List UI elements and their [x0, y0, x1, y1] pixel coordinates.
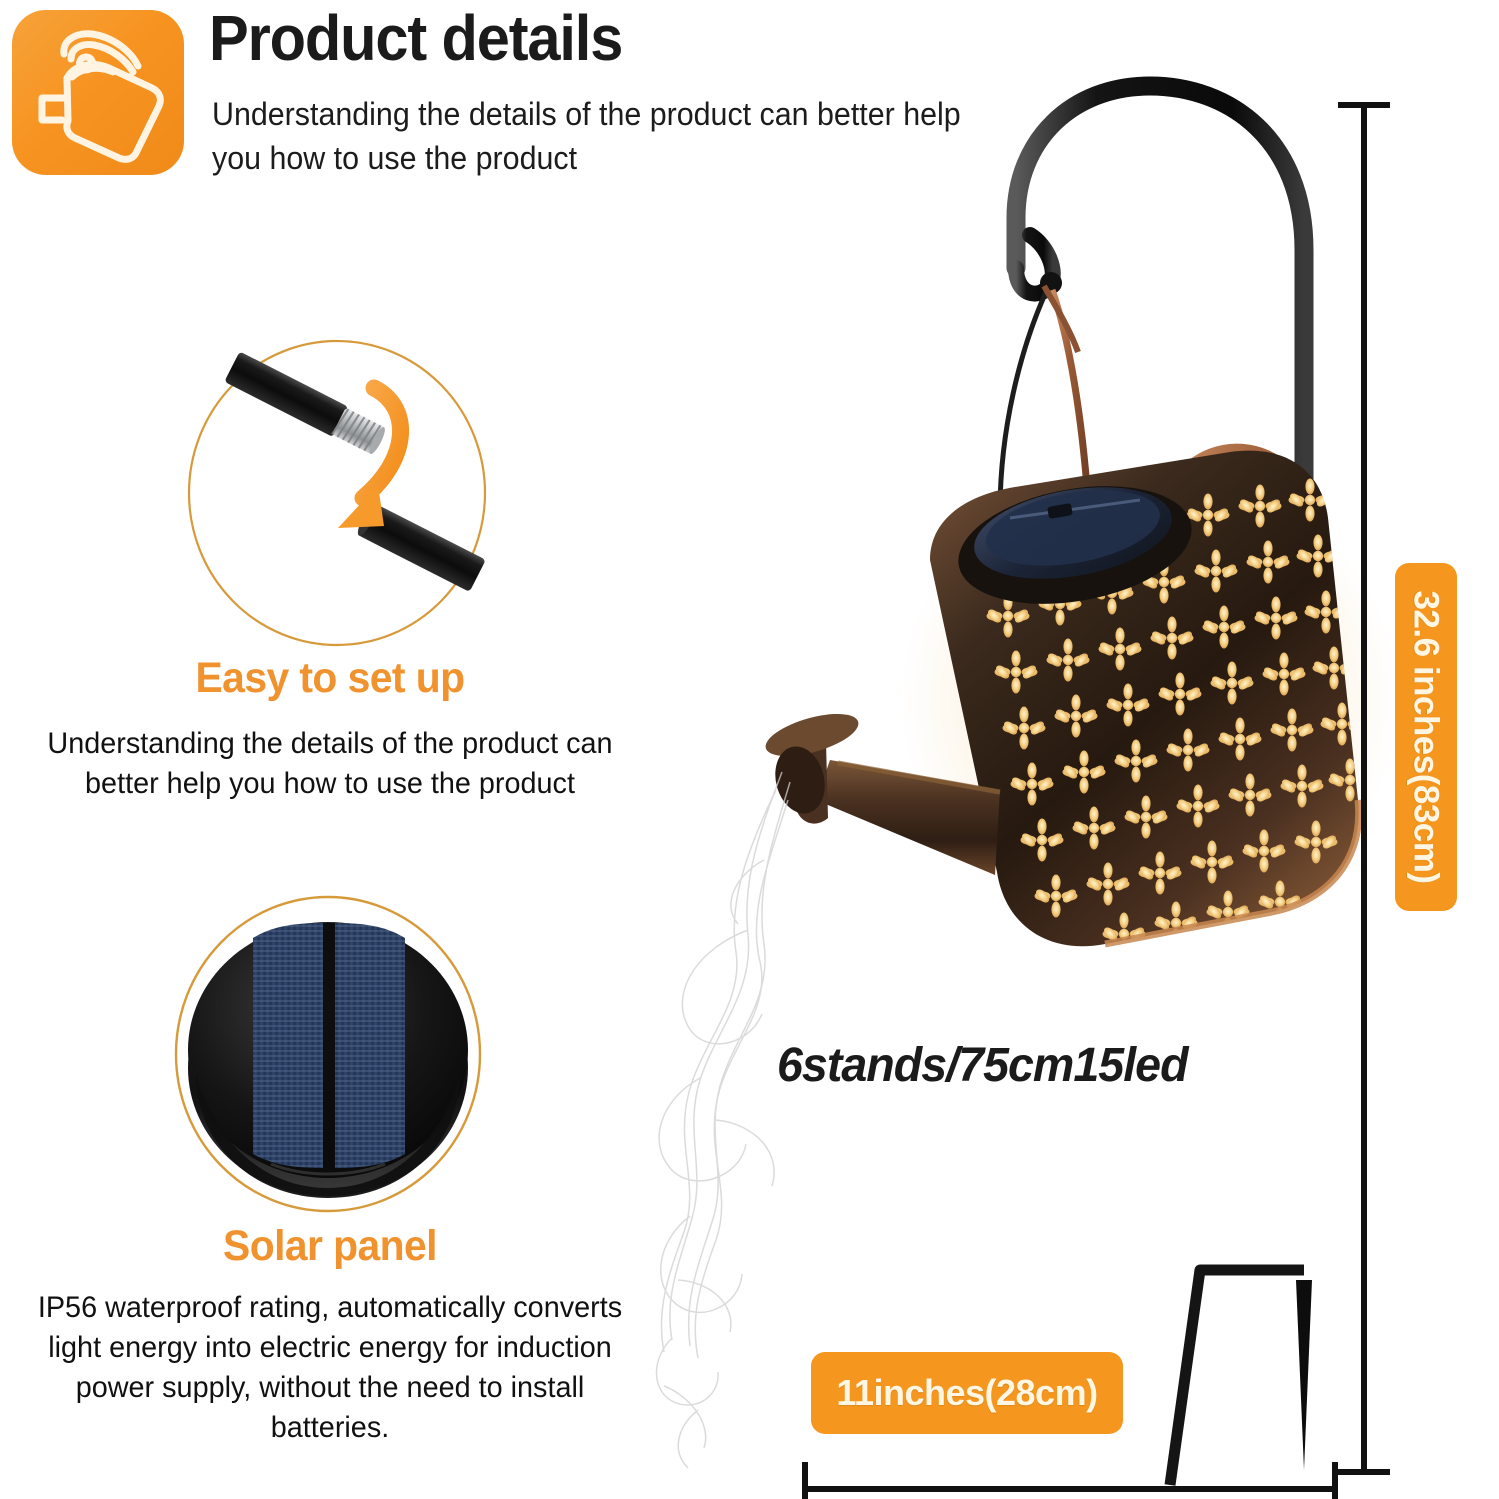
width-dimension-badge: 11inches(28cm) [811, 1352, 1123, 1434]
led-string-lights [656, 772, 790, 1468]
product-photo [0, 0, 1499, 1499]
hanging-wire-left [1000, 292, 1046, 512]
height-dimension-badge: 32.6 inches(83cm) [1395, 563, 1457, 911]
hanging-wire-mid [1044, 286, 1078, 352]
product-details-infographic: Product details Understanding the detail… [0, 0, 1499, 1499]
dimension-line-width [805, 1462, 1335, 1499]
ground-stake-foot [1170, 1270, 1304, 1485]
hanging-wire-right [1052, 290, 1088, 500]
height-dimension-text: 32.6 inches(83cm) [1406, 590, 1446, 883]
product-spec-label: 6stands/75cm15led [777, 1038, 1188, 1093]
